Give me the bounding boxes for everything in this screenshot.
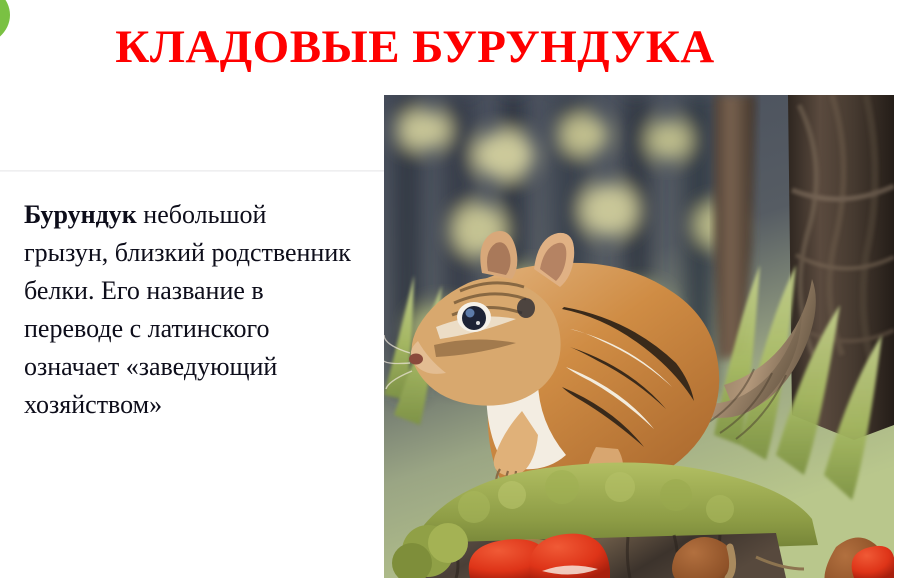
chipmunk-photo: [384, 95, 894, 578]
slide-canvas: КЛАДОВЫЕ БУРУНДУКА Бурундук небольшой гр…: [0, 0, 905, 578]
body-lead-word: Бурундук: [24, 200, 137, 229]
page-title: КЛАДОВЫЕ БУРУНДУКА: [0, 22, 830, 74]
body-rest-text: небольшой грызун, близкий родственник бе…: [24, 200, 351, 419]
chipmunk-illustration: [384, 95, 894, 578]
title-divider: [0, 170, 384, 172]
body-paragraph: Бурундук небольшой грызун, близкий родст…: [24, 196, 354, 424]
